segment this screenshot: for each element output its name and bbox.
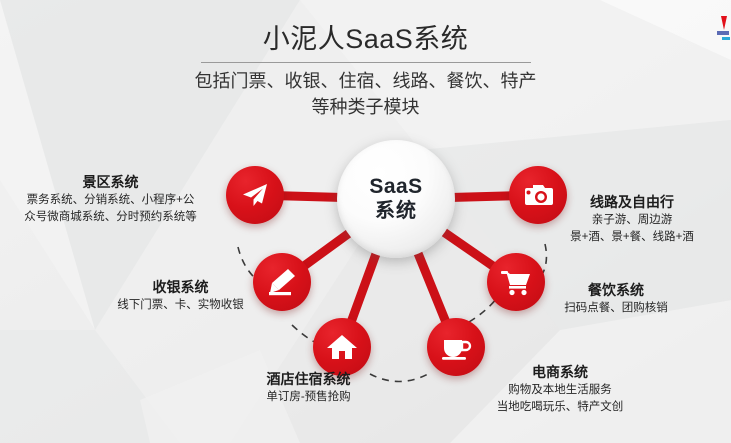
- home-icon: [326, 331, 358, 363]
- label-ecommerce: 电商系统 购物及本地生活服务 当地吃喝玩乐、特产文创: [455, 362, 665, 416]
- label-hotel: 酒店住宿系统 单订房-预售抢购: [216, 369, 401, 406]
- infographic-canvas: 小泥人SaaS系统 包括门票、收银、住宿、线路、餐饮、特产 等种类子模块 Saa…: [0, 0, 731, 443]
- label-hotel-desc-1: 单订房-预售抢购: [216, 389, 401, 406]
- label-scenic: 景区系统 票务系统、分销系统、小程序+公 众号微商城系统、分时预约系统等: [8, 172, 213, 226]
- node-hotel[interactable]: [313, 318, 371, 376]
- page-subtitle-line1: 包括门票、收银、住宿、线路、餐饮、特产: [0, 68, 731, 94]
- label-catering-desc-1: 扫码点餐、团购核销: [516, 300, 716, 317]
- label-route: 线路及自由行 亲子游、周边游 景+酒、景+餐、线路+酒: [533, 192, 731, 246]
- label-ecommerce-desc-1: 购物及本地生活服务: [455, 382, 665, 399]
- label-scenic-desc-2: 众号微商城系统、分时预约系统等: [8, 209, 213, 226]
- label-ecommerce-desc-2: 当地吃喝玩乐、特产文创: [455, 399, 665, 416]
- title-divider: [201, 62, 531, 63]
- node-scenic[interactable]: [226, 166, 284, 224]
- label-cashier-desc-1: 线下门票、卡、实物收银: [78, 297, 283, 314]
- center-hub: SaaS 系统: [337, 140, 455, 258]
- label-route-desc-1: 亲子游、周边游: [533, 212, 731, 229]
- hub-subtitle: 系统: [375, 199, 417, 224]
- label-catering: 餐饮系统 扫码点餐、团购核销: [516, 280, 716, 317]
- label-catering-title: 餐饮系统: [516, 280, 716, 300]
- coffee-cup-icon: [440, 331, 472, 363]
- label-route-title: 线路及自由行: [533, 192, 731, 212]
- label-cashier: 收银系统 线下门票、卡、实物收银: [78, 277, 283, 314]
- hub-title: SaaS: [369, 174, 422, 199]
- label-ecommerce-title: 电商系统: [455, 362, 665, 382]
- label-scenic-desc-1: 票务系统、分销系统、小程序+公: [8, 192, 213, 209]
- paper-plane-icon: [239, 179, 271, 211]
- label-hotel-title: 酒店住宿系统: [216, 369, 401, 389]
- page-title: 小泥人SaaS系统: [0, 22, 731, 56]
- label-scenic-title: 景区系统: [8, 172, 213, 192]
- label-route-desc-2: 景+酒、景+餐、线路+酒: [533, 229, 731, 246]
- page-subtitle-line2: 等种类子模块: [0, 94, 731, 120]
- header-block: 小泥人SaaS系统 包括门票、收银、住宿、线路、餐饮、特产 等种类子模块: [0, 22, 731, 120]
- label-cashier-title: 收银系统: [78, 277, 283, 297]
